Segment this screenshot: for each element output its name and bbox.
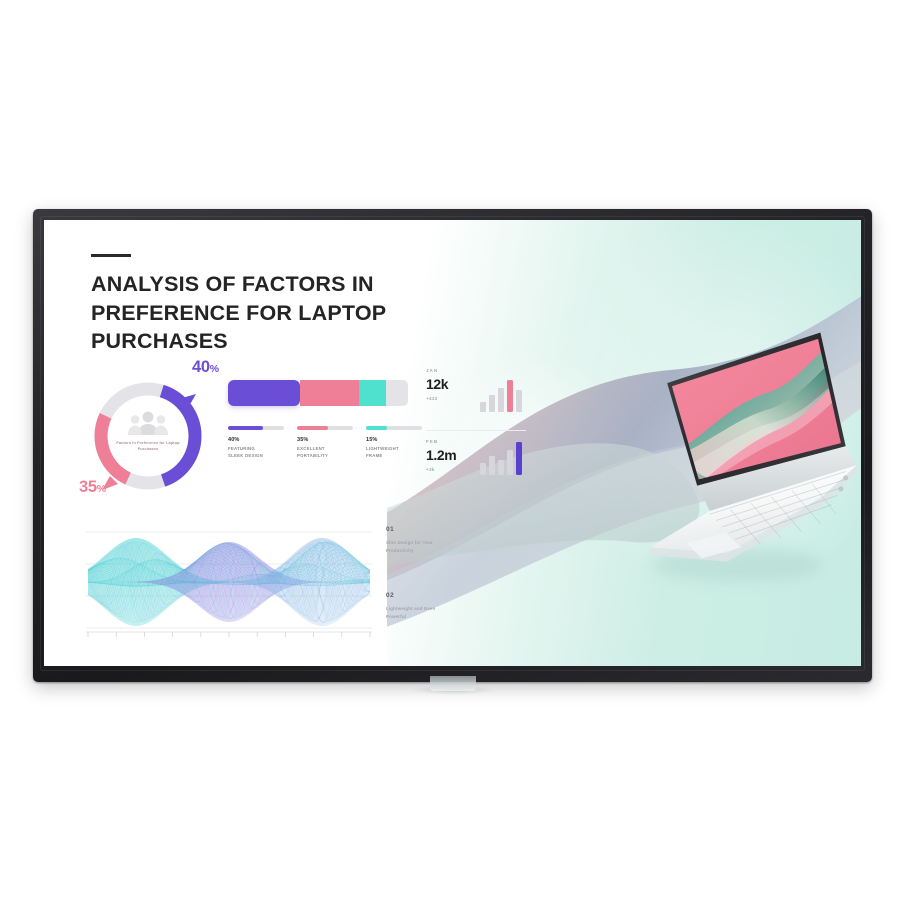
spark-bar [516, 390, 522, 412]
note-number: 01 [386, 526, 494, 533]
donut-label-40-value: 40 [192, 358, 210, 376]
legend-fill [297, 426, 328, 430]
spark-bar [489, 456, 495, 475]
note-text: Slim Design for Your Productivity [386, 539, 494, 554]
legend-label: LIGHTWEIGHT FRAME [366, 446, 422, 459]
wave-area-chart [84, 520, 374, 648]
people-group-icon [128, 410, 168, 436]
stacked-bar-chart [228, 380, 408, 406]
donut-label-35-value: 35 [79, 478, 97, 496]
stacked-bar-segment [228, 380, 300, 406]
wave-axis-ticks [86, 632, 372, 637]
stacked-bar-segment [359, 380, 386, 406]
page-title: ANALYSIS OF FACTORS IN PREFERENCE FOR LA… [91, 270, 502, 356]
note-number: 02 [386, 592, 494, 599]
stat-month: JAN [426, 368, 526, 373]
chart-legend: 40%FEATURING SLEEK DESIGN35%EXCELLENT PO… [228, 426, 424, 459]
title-accent-rule [91, 254, 131, 257]
monitor-bezel: ANALYSIS OF FACTORS IN PREFERENCE FOR LA… [33, 209, 872, 682]
legend-percent: 40% [228, 437, 284, 443]
metrics-row: Factors in Preference for Laptop Purchas… [84, 368, 529, 508]
note-item: 01Slim Design for Your Productivity [386, 526, 494, 554]
legend-track [366, 426, 422, 430]
legend-label: EXCELLENT PORTABILITY [297, 446, 353, 459]
legend-label: FEATURING SLEEK DESIGN [228, 446, 284, 459]
note-text: Lightweight and Even Powerful [386, 605, 494, 620]
spark-bar [507, 450, 513, 475]
legend-item: 35%EXCELLENT PORTABILITY [297, 426, 353, 459]
spark-bar [507, 380, 513, 412]
wave-series [88, 538, 370, 626]
monitor-stand-mount [430, 676, 476, 691]
stat-card: JAN12k+432 [426, 368, 526, 430]
spark-bar [480, 402, 486, 412]
spark-bar [489, 395, 495, 412]
laptop-product-image [634, 291, 861, 630]
donut-center-label: Factors in Preference for Laptop Purchas… [111, 440, 185, 452]
stacked-bar-segment [300, 380, 359, 406]
numbered-notes: 01Slim Design for Your Productivity02Lig… [386, 526, 494, 659]
stacked-bar-segment [386, 380, 408, 406]
stat-cards: JAN12k+432FEB1.2m+3k [426, 368, 526, 492]
legend-fill [228, 426, 263, 430]
stat-sparkline [480, 441, 522, 475]
donut-label-40: 40% [192, 358, 219, 377]
spark-bar [498, 460, 504, 475]
legend-item: 40%FEATURING SLEEK DESIGN [228, 426, 284, 459]
spark-bar [498, 388, 504, 412]
legend-fill [366, 426, 387, 430]
monitor-device: ANALYSIS OF FACTORS IN PREFERENCE FOR LA… [33, 209, 872, 682]
donut-label-35: 35% [79, 478, 106, 497]
presentation-slide: ANALYSIS OF FACTORS IN PREFERENCE FOR LA… [44, 220, 861, 666]
spark-bar [480, 463, 486, 475]
donut-label-40-unit: % [210, 363, 219, 375]
legend-percent: 15% [366, 437, 422, 443]
note-item: 02Lightweight and Even Powerful [386, 592, 494, 620]
wave-chart-svg [84, 520, 374, 648]
monitor-screen: ANALYSIS OF FACTORS IN PREFERENCE FOR LA… [44, 220, 861, 666]
legend-track [297, 426, 353, 430]
legend-item: 15%LIGHTWEIGHT FRAME [366, 426, 422, 459]
legend-percent: 35% [297, 437, 353, 443]
legend-track [228, 426, 284, 430]
stat-sparkline [480, 378, 522, 412]
screenshot-stage: ANALYSIS OF FACTORS IN PREFERENCE FOR LA… [0, 0, 900, 900]
donut-label-35-unit: % [97, 483, 106, 495]
stat-card: FEB1.2m+3k [426, 430, 526, 492]
spark-bar [516, 442, 522, 475]
